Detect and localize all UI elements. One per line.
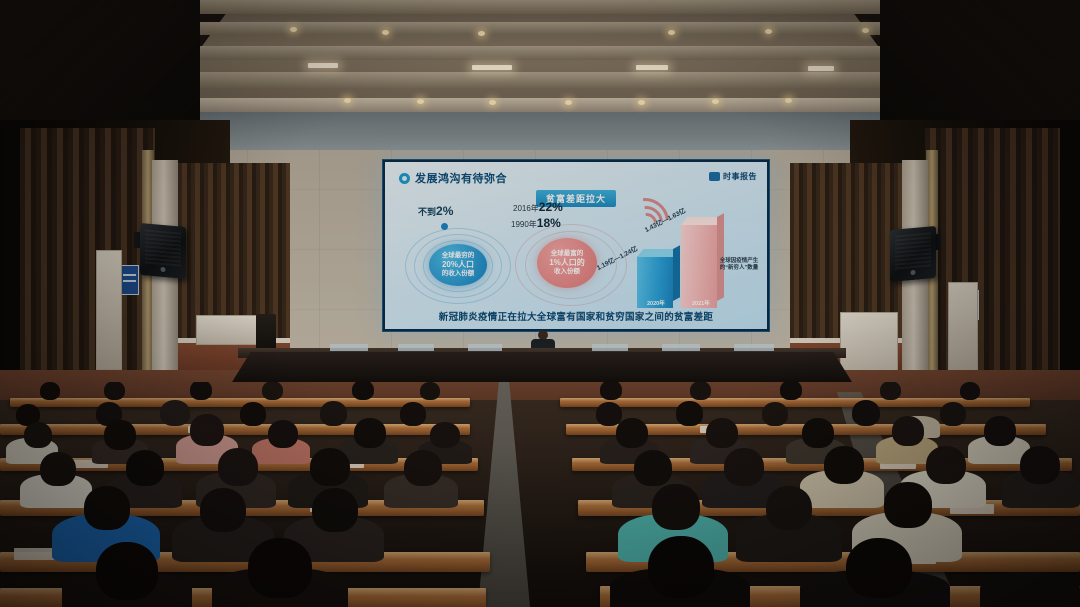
ceiling-band — [128, 72, 952, 88]
audience-head — [676, 401, 703, 426]
audience-head — [690, 382, 711, 400]
audience-head — [846, 538, 912, 598]
audience-head — [40, 382, 60, 400]
desk-row — [0, 424, 470, 435]
audience-head — [200, 488, 246, 532]
audience-head — [248, 538, 312, 598]
microphone — [734, 344, 774, 351]
percent-row-2016: 2016年22% — [513, 200, 563, 214]
audience-head — [160, 400, 190, 426]
microphone — [330, 344, 368, 351]
audience-head — [1020, 446, 1060, 484]
speaker-tweeter — [911, 270, 916, 275]
placard-line — [123, 280, 136, 282]
left-callout-prefix: 不到 — [418, 207, 436, 217]
ceiling-downlight — [565, 100, 572, 105]
pink-circle-line3: 收入份额 — [554, 268, 580, 276]
audience-head — [940, 402, 966, 426]
slide-title: 发展鸿沟有待弥合 — [415, 170, 507, 186]
audience-torso — [980, 572, 1080, 607]
ceiling-downlight — [417, 99, 424, 104]
ceiling-tube-light — [308, 63, 338, 68]
slide-surface: 发展鸿沟有待弥合 时事报告 贫富差距拉大 不到2% 全球最穷的 20%人口 的收… — [385, 162, 767, 329]
audience-head — [190, 382, 212, 400]
slide-caption: 新冠肺炎疫情正在拉大全球富有国家和贫穷国家之间的贫富差距 — [385, 309, 767, 323]
ceiling-band — [138, 46, 942, 60]
audience-head — [984, 416, 1016, 446]
audience-head — [824, 446, 864, 484]
ceiling-downlight — [638, 100, 645, 105]
left-wall-placard — [120, 265, 139, 295]
bar-2021 — [681, 224, 717, 308]
ceiling-downlight — [712, 99, 719, 104]
projection-screen[interactable]: 发展鸿沟有待弥合 时事报告 贫富差距拉大 不到2% 全球最穷的 20%人口 的收… — [382, 159, 770, 332]
ceiling-downlight — [765, 29, 772, 34]
audience-head — [420, 382, 440, 400]
audience-head — [404, 450, 442, 486]
percent-value-1990: 18% — [537, 216, 561, 230]
bar-category-2020: 2020年 — [647, 299, 665, 307]
audience-head — [96, 542, 158, 600]
audience-head — [84, 486, 130, 530]
ceiling-tube-light — [808, 66, 834, 71]
slide-logo: 时事报告 — [709, 171, 757, 182]
left-av-cabinet — [196, 315, 260, 345]
microphone — [592, 344, 628, 351]
audience-head — [706, 418, 738, 448]
right-floor-column — [948, 282, 978, 380]
callout-dot-icon — [441, 223, 448, 230]
audience-head — [320, 401, 347, 426]
ceiling-downlight — [862, 28, 869, 33]
ceiling-downlight — [785, 98, 792, 103]
speaker-grille — [145, 229, 181, 266]
audience-head — [634, 450, 672, 486]
audience-head — [126, 450, 164, 486]
left-callout-label: 不到2% — [418, 204, 453, 218]
right-av-cabinet — [840, 312, 898, 374]
audience-head — [616, 418, 648, 448]
lecture-hall-photo: 发展鸿沟有待弥合 时事报告 贫富差距拉大 不到2% 全球最穷的 20%人口 的收… — [0, 0, 1080, 607]
audience-head — [310, 448, 350, 486]
stage-table-front — [232, 352, 852, 382]
audience-area — [0, 382, 1080, 607]
blue-circle-line1: 全球最穷的 — [442, 252, 475, 260]
ceiling-downlight — [478, 31, 485, 36]
audience-head — [430, 422, 460, 448]
audience-head — [648, 536, 714, 598]
audience-head — [104, 382, 125, 400]
audience-head — [960, 382, 980, 400]
audience-head — [852, 400, 880, 426]
percent-year-2016: 2016年 — [513, 204, 539, 213]
ceiling-tube-light — [472, 65, 512, 70]
left-floor-column — [96, 250, 122, 370]
center-aisle — [478, 382, 530, 607]
microphone — [398, 344, 434, 351]
audience-head — [190, 414, 224, 446]
audience-head — [400, 402, 426, 426]
ceiling-tube-light — [636, 65, 668, 70]
audience-head — [24, 422, 52, 448]
ceiling-left-dark — [0, 0, 200, 140]
slide-logo-text: 时事报告 — [723, 171, 757, 182]
ceiling-downlight — [290, 27, 297, 32]
pink-statistic-circle: 全球最富的 1%人口的 收入份额 — [537, 238, 597, 288]
microphone — [468, 344, 502, 351]
audience-head — [892, 416, 924, 446]
bar-chart-note: 全球因疫情产生的“新穷人”数量 — [717, 258, 761, 273]
audience-head — [880, 382, 901, 400]
audience-head — [926, 446, 966, 484]
pink-circle-line1: 全球最富的 — [551, 250, 584, 258]
ceiling-band — [155, 0, 925, 14]
ceiling-band — [148, 22, 932, 35]
audience-head — [104, 420, 136, 450]
logo-mark-icon — [709, 172, 720, 181]
left-wall-speaker — [140, 223, 186, 279]
audience-head — [600, 382, 622, 400]
audience-head — [724, 448, 764, 486]
audience-head — [652, 484, 700, 530]
speaker-tweeter — [161, 267, 166, 272]
audience-head — [802, 418, 834, 448]
audience-head — [218, 448, 258, 486]
percent-row-1990: 1990年18% — [511, 216, 561, 230]
blue-circle-line2: 20%人口 — [442, 260, 474, 270]
placard-line — [123, 274, 136, 276]
left-callout-value: 2% — [436, 204, 453, 218]
right-wall-speaker — [890, 226, 936, 282]
ceiling-downlight — [344, 98, 351, 103]
audience-head — [40, 452, 76, 486]
ceiling-downlight — [489, 100, 496, 105]
bullet-icon — [399, 173, 410, 184]
ceiling-downlight — [668, 30, 675, 35]
audience-head — [262, 382, 283, 400]
desk-row — [10, 398, 470, 407]
audience-head — [596, 402, 622, 426]
microphone — [662, 344, 700, 351]
ceiling-downlight — [382, 30, 389, 35]
audience-head — [884, 482, 932, 528]
audience-head — [268, 420, 298, 448]
audience-head — [780, 382, 802, 400]
audience-head — [352, 382, 374, 400]
audience-head — [762, 402, 788, 426]
audience-head — [240, 402, 266, 426]
ceiling-right-dark — [880, 0, 1080, 140]
percent-year-1990: 1990年 — [511, 220, 537, 229]
audience-head — [354, 418, 386, 448]
blue-statistic-circle: 全球最穷的 20%人口 的收入份额 — [429, 244, 487, 286]
slide-title-group: 发展鸿沟有待弥合 — [399, 170, 507, 186]
audience-head — [312, 488, 358, 532]
audience-head — [766, 486, 812, 530]
pink-circle-line2: 1%人口的 — [549, 258, 585, 268]
speaker-grille — [895, 232, 931, 269]
blue-circle-line3: 的收入份额 — [442, 270, 475, 278]
bar-category-2021: 2021年 — [692, 299, 710, 307]
percent-value-2016: 22% — [539, 200, 563, 214]
